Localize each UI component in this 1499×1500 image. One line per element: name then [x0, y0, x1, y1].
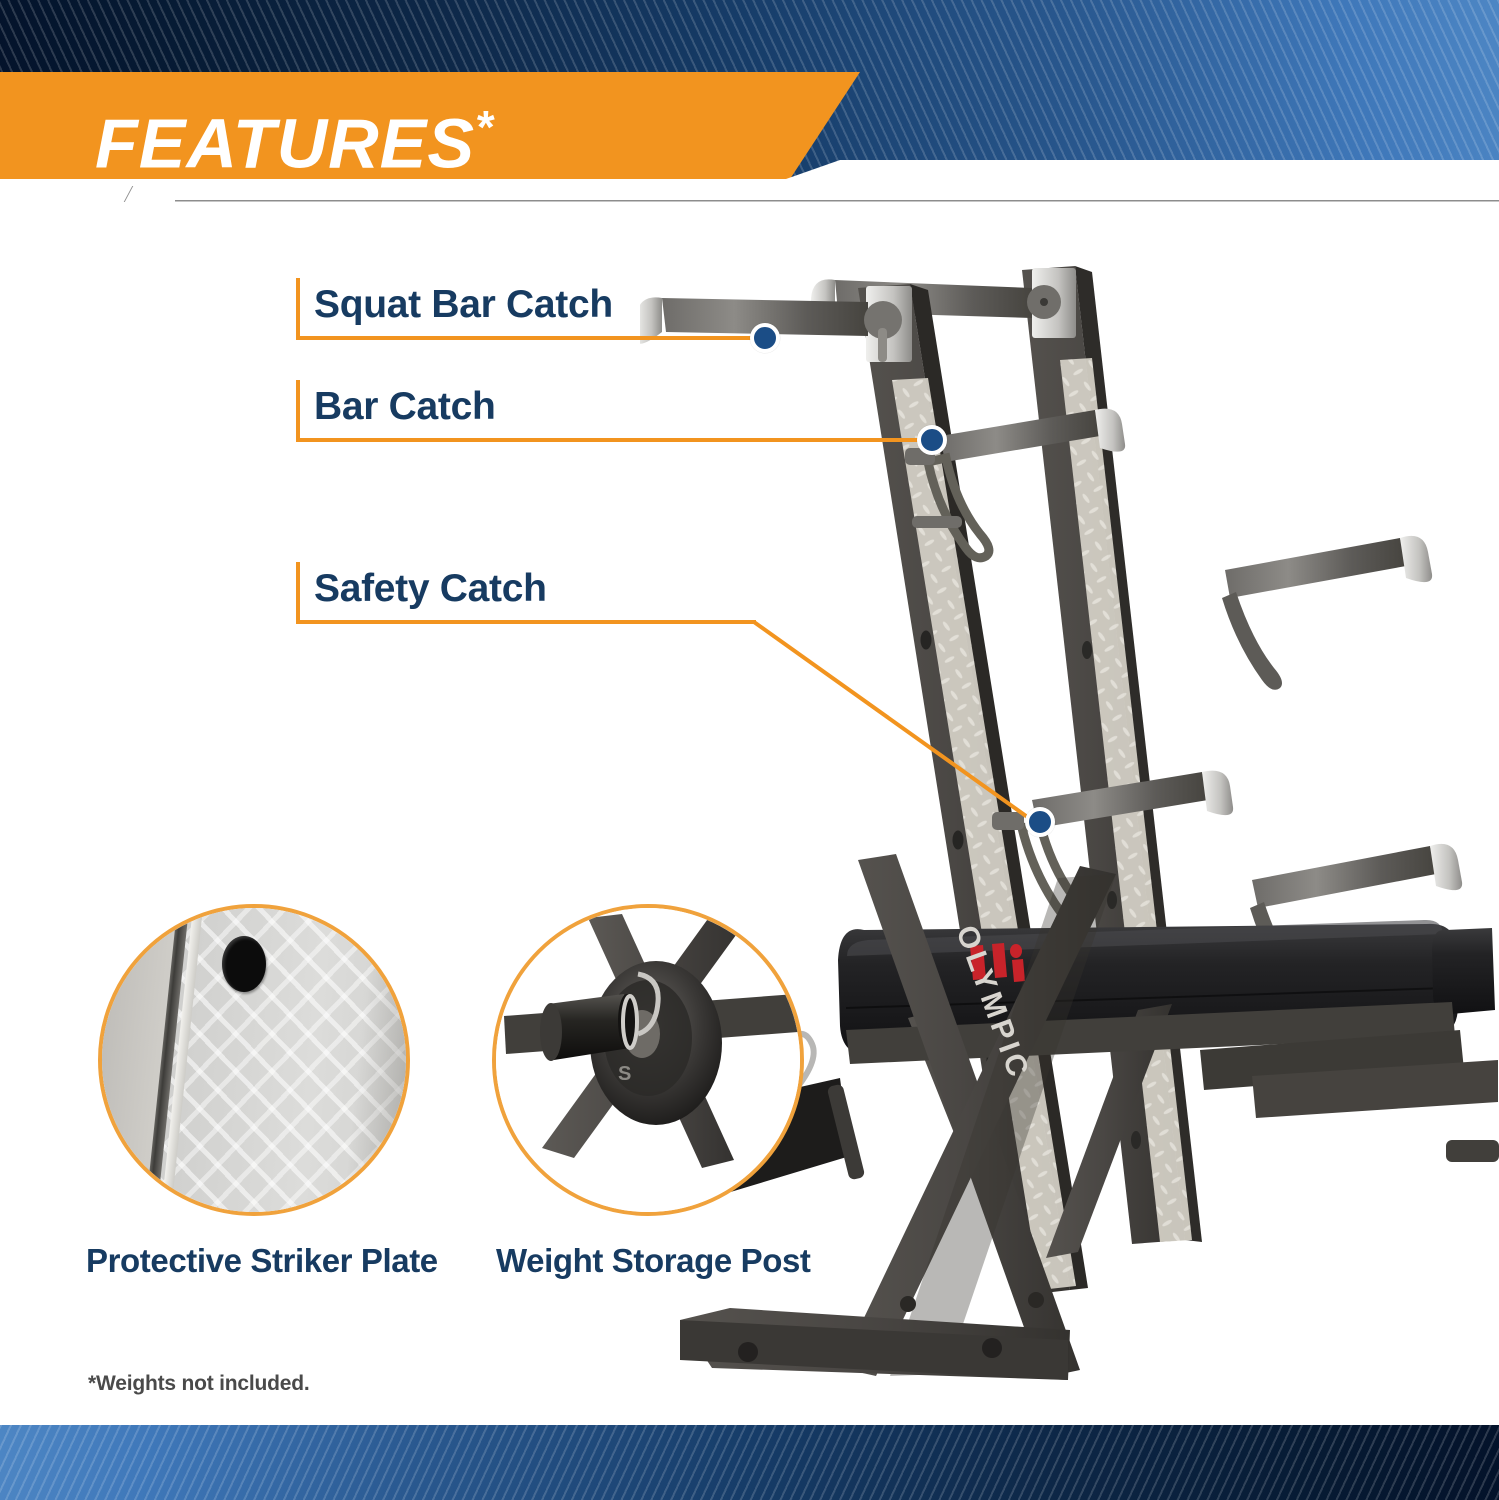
bar-catch-leader-tick — [296, 380, 300, 442]
inset-1-circle — [98, 904, 410, 1216]
page-title: FEATURES* — [95, 81, 494, 186]
header-rule-diagonal — [124, 186, 191, 202]
callout-label-squat-bar-catch: Squat Bar Catch — [314, 283, 613, 327]
inset-1-caption: Protective Striker Plate — [86, 1242, 438, 1280]
inset-2-circle: S — [492, 904, 804, 1216]
squat-bar-catch-leader-line — [296, 336, 758, 340]
base-foot — [680, 1308, 1070, 1380]
footer-banner — [0, 1425, 1499, 1500]
callout-label-bar-catch: Bar Catch — [314, 385, 496, 429]
bar-catch-leader-line — [296, 438, 936, 442]
inset-protective-striker-plate: Protective Striker Plate — [98, 904, 418, 1284]
striker-plate-hole — [222, 936, 266, 992]
squat-bar-catch-leader-tick — [296, 278, 300, 340]
header-banner: FEATURES* — [0, 0, 1499, 186]
rear-bar-catch — [1222, 536, 1432, 690]
inset-2-caption: Weight Storage Post — [496, 1242, 811, 1280]
page-title-asterisk: * — [475, 101, 494, 153]
footnote-weights-not-included: *Weights not included. — [88, 1372, 310, 1396]
footer-stripe-background — [0, 1425, 1499, 1500]
bar-catch-dot[interactable] — [917, 425, 947, 455]
feature-page: FEATURES* — [0, 0, 1499, 1500]
right-side-bracket — [1446, 1140, 1499, 1162]
squat-bar-catch-dot[interactable] — [750, 323, 780, 353]
svg-text:S: S — [618, 1063, 631, 1085]
inset-2-art: S — [496, 908, 804, 1216]
safety-catch-leader-tick — [296, 562, 300, 624]
inset-weight-storage-post: S Weight Storage Post — [492, 904, 812, 1284]
header-rule-horizontal — [0, 200, 1499, 202]
safety-catch-leader-line — [296, 620, 756, 624]
header-accent-rule — [0, 186, 1499, 210]
page-title-text: FEATURES — [95, 104, 475, 182]
safety-catch-dot[interactable] — [1025, 807, 1055, 837]
callout-label-safety-catch: Safety Catch — [314, 567, 547, 611]
